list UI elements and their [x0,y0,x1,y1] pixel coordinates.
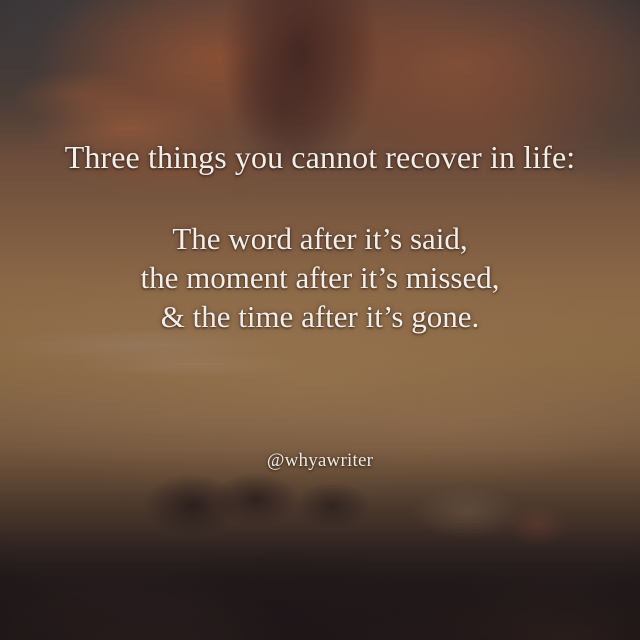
quote-text-block: Three things you cannot recover in life:… [0,0,640,640]
author-handle: @whyawriter [0,450,640,472]
quote-stanza: The word after it’s said, the moment aft… [0,219,640,336]
quote-headline: Three things you cannot recover in life: [0,140,640,175]
quote-image-card: Three things you cannot recover in life:… [0,0,640,640]
quote-line-1: The word after it’s said, [0,219,640,258]
quote-line-3: & the time after it’s gone. [0,297,640,336]
quote-line-2: the moment after it’s missed, [0,258,640,297]
